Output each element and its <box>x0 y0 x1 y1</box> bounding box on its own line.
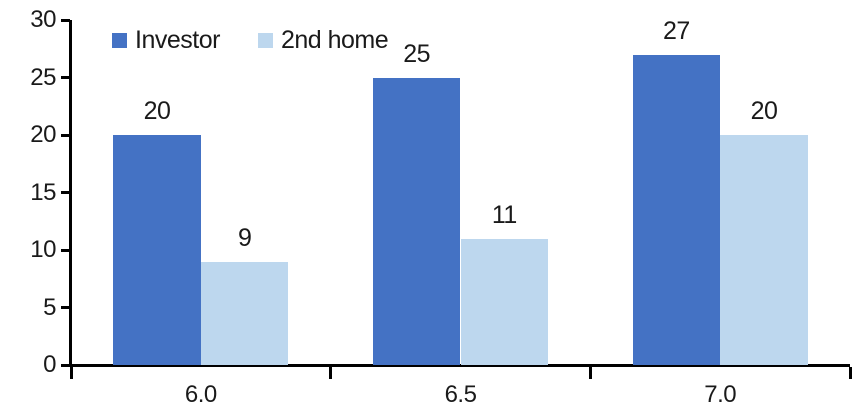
y-axis-tick <box>61 19 70 22</box>
bar-investor-6.0[interactable] <box>113 135 201 365</box>
x-axis-tick-label: 6.0 <box>141 382 261 407</box>
legend-item-2nd-home[interactable]: 2nd home <box>258 28 388 53</box>
bar-chart: 051015202530 6.06.57.0 20925112720 Inves… <box>0 0 852 410</box>
legend-item-investor[interactable]: Investor <box>112 28 220 53</box>
x-axis-tick <box>329 367 332 379</box>
x-axis-tick-label: 7.0 <box>660 382 780 407</box>
y-axis-tick-label: 15 <box>6 181 56 205</box>
y-axis-tick <box>61 191 70 194</box>
bar-2nd-home-7.0[interactable] <box>720 135 808 365</box>
y-axis-tick-label: 20 <box>6 123 56 147</box>
y-axis-tick-label: 10 <box>6 238 56 262</box>
bar-2nd-home-6.0[interactable] <box>201 262 289 366</box>
y-axis-tick-label: 0 <box>6 353 56 377</box>
y-axis-tick <box>61 76 70 79</box>
bar-value-label: 11 <box>454 203 554 228</box>
x-axis-tick <box>849 367 852 379</box>
chart-legend: Investor2nd home <box>112 28 388 53</box>
bar-value-label: 27 <box>626 19 726 44</box>
bar-investor-6.5[interactable] <box>373 78 461 366</box>
bar-value-label: 20 <box>714 99 814 124</box>
y-axis-tick <box>61 306 70 309</box>
plot-area: 20925112720 <box>71 20 850 365</box>
y-axis-tick-label: 5 <box>6 296 56 320</box>
y-axis-tick <box>61 249 70 252</box>
y-axis-tick-label: 30 <box>6 8 56 32</box>
x-axis-tick <box>70 367 73 379</box>
bar-investor-7.0[interactable] <box>633 55 721 366</box>
y-axis-tick-label: 25 <box>6 66 56 90</box>
legend-swatch-icon <box>112 33 127 48</box>
x-axis-tick-label: 6.5 <box>401 382 521 407</box>
legend-label: Investor <box>135 28 220 53</box>
x-axis-tick <box>589 367 592 379</box>
bar-value-label: 9 <box>195 226 295 251</box>
legend-label: 2nd home <box>281 28 388 53</box>
y-axis-tick <box>61 134 70 137</box>
bar-value-label: 20 <box>107 99 207 124</box>
legend-swatch-icon <box>258 33 273 48</box>
bar-2nd-home-6.5[interactable] <box>461 239 549 366</box>
